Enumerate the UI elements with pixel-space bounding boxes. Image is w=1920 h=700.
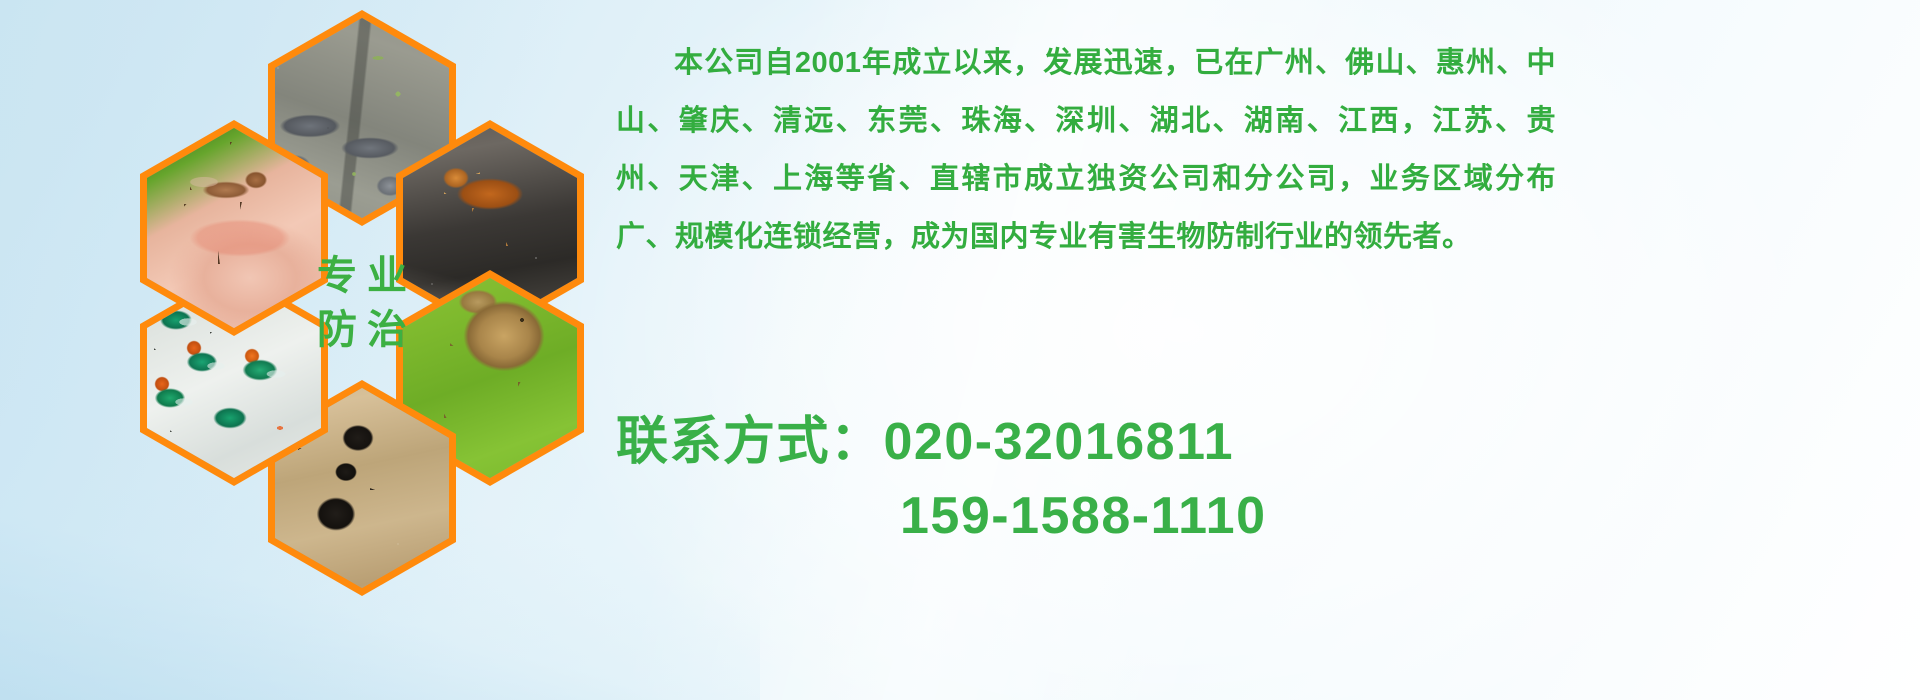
pest-control-banner: 专业 防治 本公司自2001年成立以来，发展迅速，已在广州、佛山、惠州、中山、肇… [0, 0, 1920, 700]
honeycomb-collage: 专业 防治 [92, 8, 592, 578]
contact-block: 联系方式：020-32016811 159-1588-1110 [616, 405, 1576, 553]
contact-line-primary[interactable]: 联系方式：020-32016811 [616, 405, 1576, 479]
company-intro-block: 本公司自2001年成立以来，发展迅速，已在广州、佛山、惠州、中山、肇庆、清远、东… [616, 34, 1556, 266]
brand-slogan-line-2: 防治 [307, 310, 417, 350]
contact-line-secondary[interactable]: 159-1588-1110 [616, 479, 1576, 553]
brand-slogan: 专业 防治 [275, 203, 449, 403]
company-intro-paragraph: 本公司自2001年成立以来，发展迅速，已在广州、佛山、惠州、中山、肇庆、清远、东… [616, 34, 1556, 266]
brand-slogan-line-1: 专业 [307, 256, 417, 296]
